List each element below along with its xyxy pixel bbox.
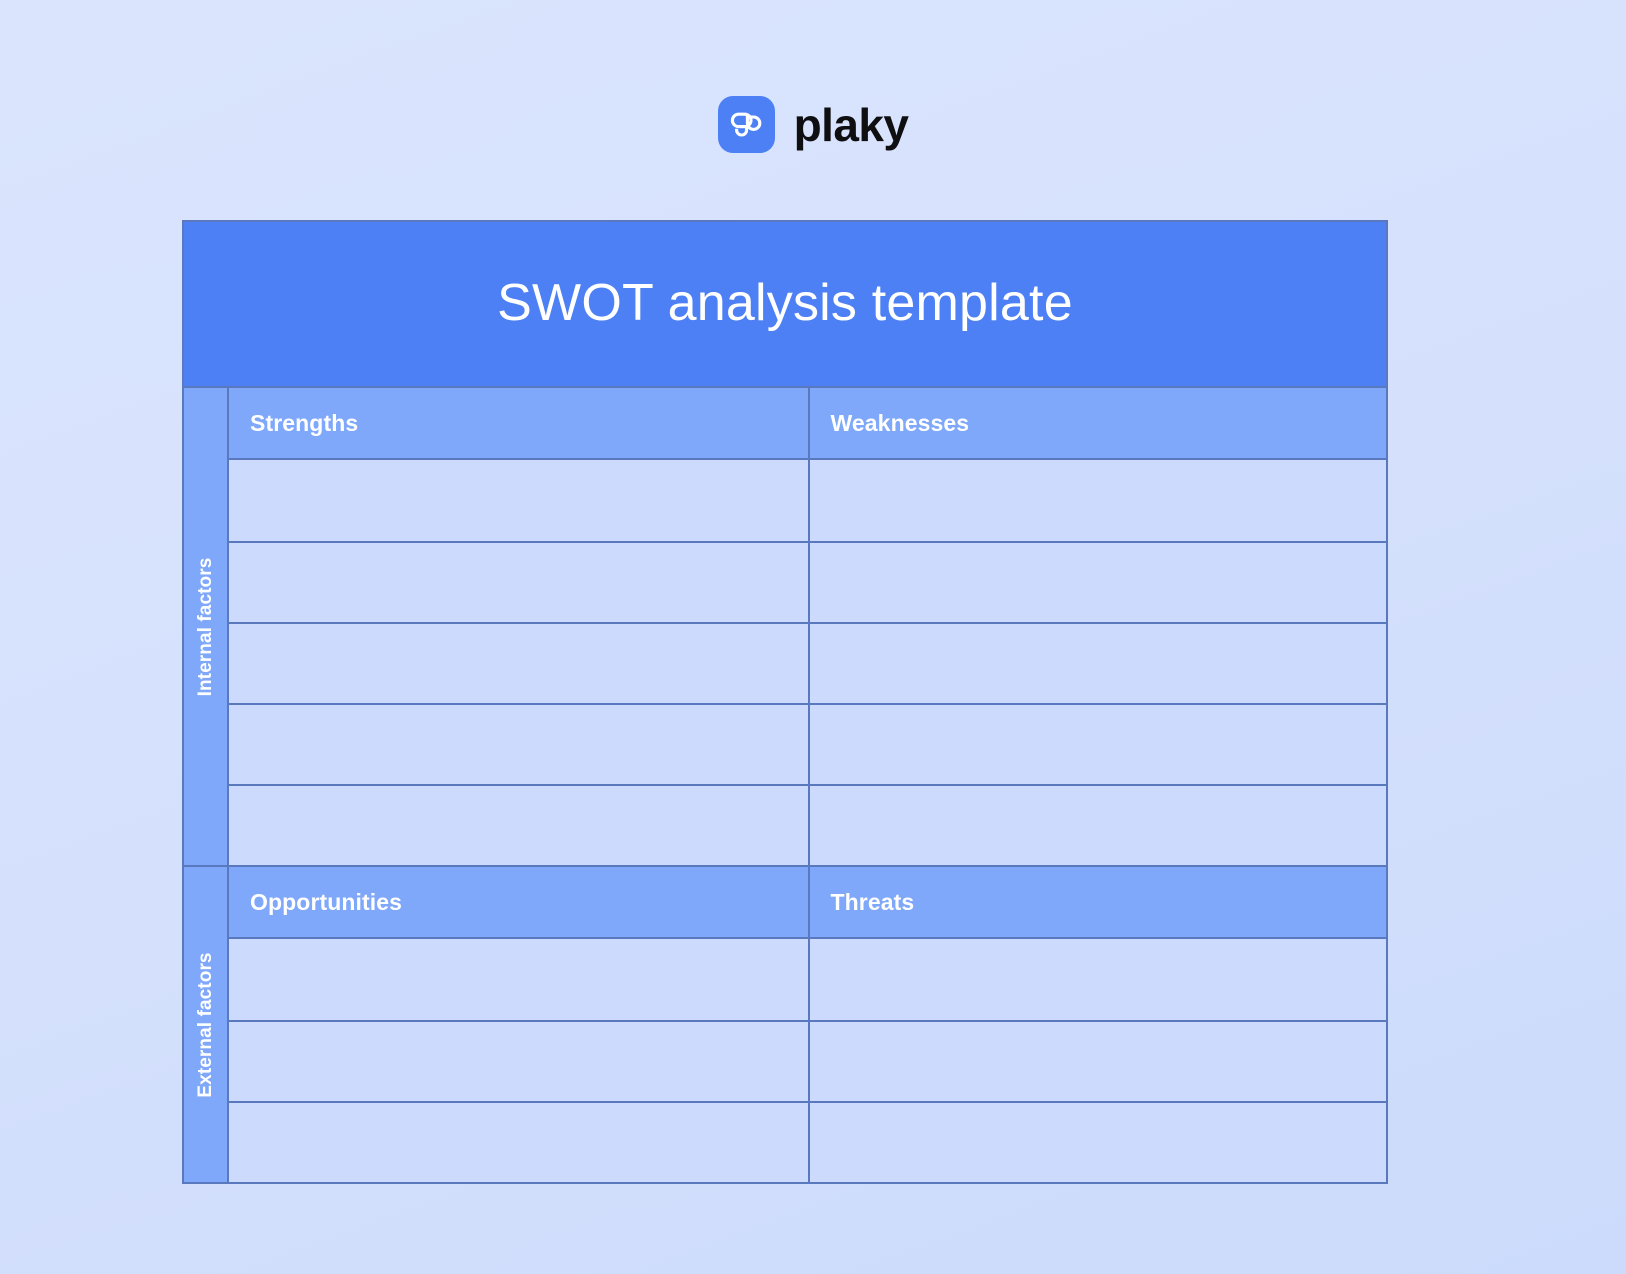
table-row[interactable] — [229, 784, 808, 865]
quadrant-rows-opportunities — [229, 939, 808, 1182]
quadrants-external: Opportunities Threats — [229, 867, 1386, 1182]
swot-table: SWOT analysis template Internal factors … — [182, 220, 1388, 1184]
quadrant-header-weaknesses: Weaknesses — [810, 388, 1387, 460]
quadrant-rows-strengths — [229, 460, 808, 865]
quadrant-header-opportunities: Opportunities — [229, 867, 808, 939]
plaky-logo-icon — [718, 96, 775, 153]
quadrant-header-threats: Threats — [810, 867, 1387, 939]
quadrant-strengths: Strengths — [229, 388, 808, 865]
quadrant-rows-weaknesses — [810, 460, 1387, 865]
table-row[interactable] — [810, 1101, 1387, 1182]
axis-label-internal-factors: Internal factors — [184, 388, 229, 865]
table-row[interactable] — [810, 460, 1387, 541]
quadrant-weaknesses: Weaknesses — [808, 388, 1387, 865]
axis-label-internal-factors-text: Internal factors — [195, 557, 217, 696]
axis-label-external-factors-text: External factors — [195, 952, 217, 1097]
table-row[interactable] — [810, 703, 1387, 784]
section-internal-factors: Internal factors Strengths Weaknesses — [184, 388, 1386, 865]
table-row[interactable] — [229, 703, 808, 784]
axis-label-external-factors: External factors — [184, 867, 229, 1182]
brand-logo: plaky — [0, 96, 1626, 153]
quadrant-threats: Threats — [808, 867, 1387, 1182]
quadrant-header-weaknesses-text: Weaknesses — [831, 410, 970, 437]
quadrant-rows-threats — [810, 939, 1387, 1182]
swot-title-bar: SWOT analysis template — [184, 222, 1386, 388]
section-external-factors: External factors Opportunities Threats — [184, 865, 1386, 1182]
table-row[interactable] — [229, 622, 808, 703]
quadrant-opportunities: Opportunities — [229, 867, 808, 1182]
table-row[interactable] — [810, 541, 1387, 622]
quadrants-internal: Strengths Weaknesses — [229, 388, 1386, 865]
table-row[interactable] — [229, 460, 808, 541]
quadrant-header-opportunities-text: Opportunities — [250, 889, 402, 916]
table-row[interactable] — [229, 939, 808, 1020]
table-row[interactable] — [810, 784, 1387, 865]
quadrant-header-threats-text: Threats — [831, 889, 915, 916]
page-title: SWOT analysis template — [497, 275, 1073, 332]
brand-name: plaky — [794, 102, 909, 148]
table-row[interactable] — [229, 1101, 808, 1182]
table-row[interactable] — [810, 939, 1387, 1020]
table-row[interactable] — [810, 1020, 1387, 1101]
table-row[interactable] — [229, 1020, 808, 1101]
quadrant-header-strengths-text: Strengths — [250, 410, 358, 437]
quadrant-header-strengths: Strengths — [229, 388, 808, 460]
table-row[interactable] — [229, 541, 808, 622]
table-row[interactable] — [810, 622, 1387, 703]
